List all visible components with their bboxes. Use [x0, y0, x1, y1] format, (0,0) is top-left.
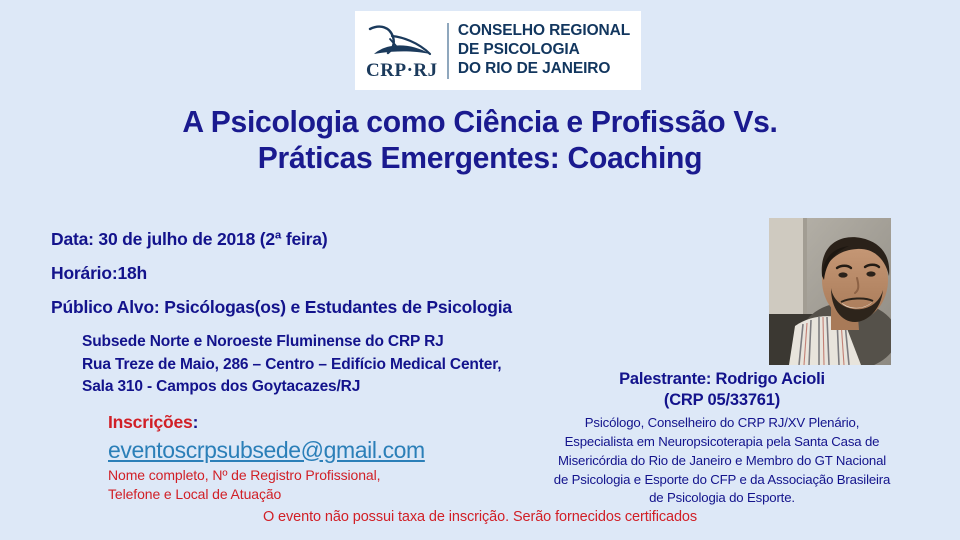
venue-street: Rua Treze de Maio, 286 – Centro – Edifíc…	[82, 354, 501, 377]
registration-email-link[interactable]: eventoscrpsubsede@gmail.com	[108, 436, 425, 465]
logo-line-1: CONSELHO REGIONAL	[458, 22, 630, 41]
speaker-bio-line-3: Misericórdia do Rio de Janeiro e Membro …	[512, 452, 932, 471]
registration-note-line-2: Telefone e Local de Atuação	[108, 485, 425, 504]
event-details: Data: 30 de julho de 2018 (2ª feira) Hor…	[51, 222, 512, 324]
registration-label: Inscrições:	[108, 410, 425, 435]
event-audience: Público Alvo: Psicólogas(os) e Estudante…	[51, 290, 512, 324]
event-date: Data: 30 de julho de 2018 (2ª feira)	[51, 222, 512, 256]
speaker-bio-line-1: Psicólogo, Conselheiro do CRP RJ/XV Plen…	[512, 414, 932, 433]
speaker-photo	[769, 218, 891, 365]
logo-line-2: DE PSICOLOGIA	[458, 41, 630, 60]
speaker-registration-number: (CRP 05/33761)	[512, 390, 932, 411]
registration-label-colon: :	[193, 412, 199, 432]
page-title: A Psicologia como Ciência e Profissão Vs…	[14, 104, 945, 177]
footer-note: O evento não possui taxa de inscrição. S…	[0, 509, 960, 525]
logo-divider	[447, 23, 449, 79]
speaker-bio-line-2: Especialista em Neuropsicoterapia pela S…	[512, 433, 932, 452]
logo-line-3: DO RIO DE JANEIRO	[458, 60, 630, 79]
registration-block: Inscrições: eventoscrpsubsede@gmail.com …	[108, 410, 425, 504]
speaker-name: Palestrante: Rodrigo Acioli	[512, 369, 932, 390]
crp-bird-mark-icon: CRP·RJ	[366, 22, 438, 80]
logo-institution-name: CONSELHO REGIONAL DE PSICOLOGIA DO RIO D…	[458, 22, 630, 79]
event-poster: CRP·RJ CONSELHO REGIONAL DE PSICOLOGIA D…	[0, 0, 960, 540]
speaker-bio-line-4: de Psicologia e Esporte do CFP e da Asso…	[512, 471, 932, 490]
crp-rj-logo: CRP·RJ CONSELHO REGIONAL DE PSICOLOGIA D…	[355, 11, 641, 90]
registration-note-line-1: Nome completo, Nº de Registro Profission…	[108, 466, 425, 485]
event-time: Horário:18h	[51, 256, 512, 290]
venue-room-city: Sala 310 - Campos dos Goytacazes/RJ	[82, 376, 501, 399]
registration-instructions: Nome completo, Nº de Registro Profission…	[108, 466, 425, 504]
speaker-biography: Psicólogo, Conselheiro do CRP RJ/XV Plen…	[512, 414, 932, 508]
speaker-bio-line-5: de Psicologia do Esporte.	[512, 489, 932, 508]
venue-name: Subsede Norte e Noroeste Fluminense do C…	[82, 331, 501, 354]
title-line-1: A Psicologia como Ciência e Profissão Vs…	[14, 104, 945, 140]
event-venue-address: Subsede Norte e Noroeste Fluminense do C…	[82, 331, 501, 399]
logo-wordmark: CRP·RJ	[366, 61, 438, 80]
registration-label-text: Inscrições	[108, 412, 193, 432]
speaker-info: Palestrante: Rodrigo Acioli (CRP 05/3376…	[512, 369, 932, 508]
title-line-2: Práticas Emergentes: Coaching	[14, 140, 945, 176]
